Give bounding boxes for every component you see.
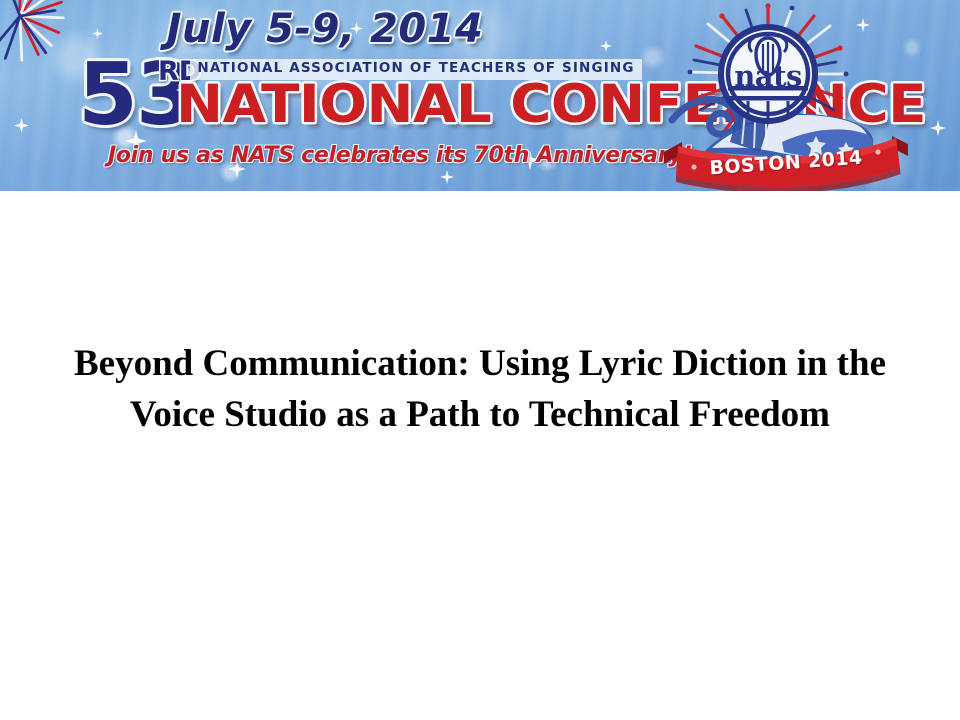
slide-title: Beyond Communication: Using Lyric Dictio…: [50, 338, 910, 440]
sparkle-star: [14, 118, 29, 133]
slide: July 5-9, 2014 53 RD NATIONAL ASSOCIATIO…: [0, 0, 960, 720]
nats-logo: nats BOSTON 2014: [664, 2, 914, 191]
nats-seal: [718, 24, 818, 124]
nats-logo-graphic: [664, 2, 914, 191]
conference-banner: July 5-9, 2014 53 RD NATIONAL ASSOCIATIO…: [0, 0, 960, 191]
sparkle-star: [440, 170, 454, 184]
sparkle-star: [930, 120, 946, 136]
